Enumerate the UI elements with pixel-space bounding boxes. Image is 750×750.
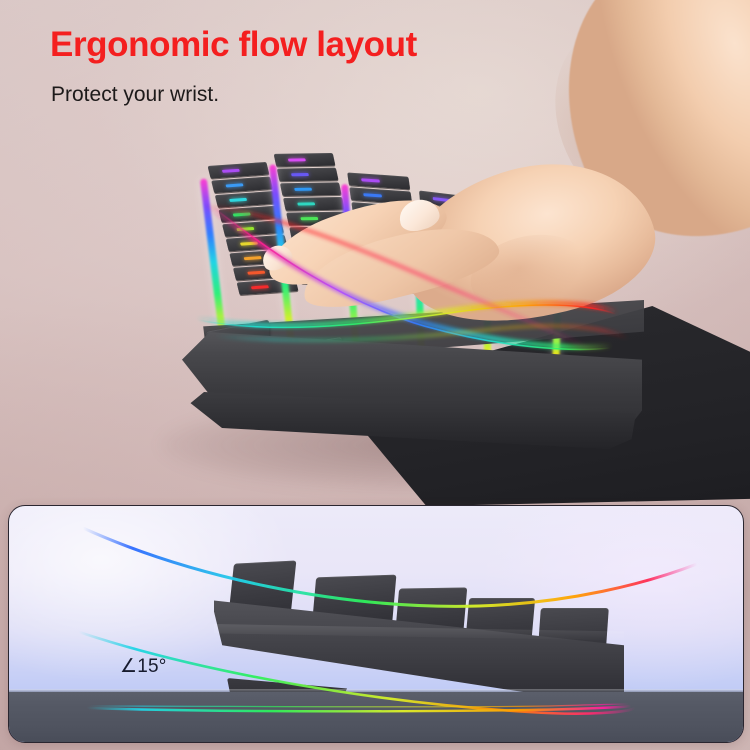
tilt-angle-label: ∠15° [120,655,167,678]
product-marketing-image: Ergonomic flow layout Protect your wrist… [0,0,750,750]
panel-rgb-streaks [9,506,743,742]
page-subtitle: Protect your wrist. [51,84,219,105]
side-profile-panel [8,505,744,743]
page-title: Ergonomic flow layout [50,27,417,62]
